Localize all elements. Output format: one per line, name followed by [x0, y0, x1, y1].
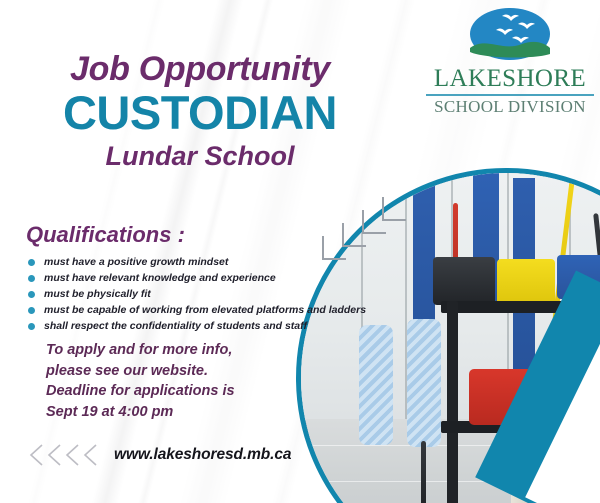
- list-item: must have a positive growth mindset: [26, 255, 356, 271]
- apply-line-4: Sept 19 at 4:00 pm: [46, 402, 306, 423]
- list-item: shall respect the confidentiality of stu…: [26, 319, 356, 335]
- website-url[interactable]: www.lakeshoresd.mb.ca: [114, 446, 291, 464]
- headline-custodian: CUSTODIAN: [0, 88, 400, 137]
- headline-block: Job Opportunity CUSTODIAN Lundar School: [0, 52, 400, 170]
- logo-subtitle: SCHOOL DIVISION: [424, 98, 596, 115]
- dust-mop-blue-2: [407, 319, 441, 447]
- headline-school: Lundar School: [0, 143, 400, 170]
- apply-line-3: Deadline for applications is: [46, 381, 306, 402]
- apply-info-block: To apply and for more info, please see o…: [46, 340, 306, 422]
- chevron-left-icon: [64, 443, 81, 467]
- chevron-left-icons: [28, 443, 99, 467]
- website-block: www.lakeshoresd.mb.ca: [28, 443, 291, 467]
- apply-line-1: To apply and for more info,: [46, 340, 306, 361]
- logo-rule: [426, 94, 594, 96]
- dust-mop-blue: [359, 325, 393, 445]
- logo-name: LAKESHORE: [424, 66, 596, 91]
- job-posting-poster: LAKESHORE SCHOOL DIVISION Job Opportunit…: [0, 0, 600, 503]
- lakeshore-logo: LAKESHORE SCHOOL DIVISION: [424, 6, 596, 115]
- list-item: must be capable of working from elevated…: [26, 303, 356, 319]
- qualifications-section: Qualifications : must have a positive gr…: [26, 222, 356, 335]
- lakeshore-birds-emblem-icon: [466, 6, 554, 62]
- qualifications-list: must have a positive growth mindset must…: [26, 255, 356, 335]
- yellow-tub: [497, 259, 555, 307]
- headline-job-opportunity: Job Opportunity: [0, 52, 400, 86]
- cart-bin: [433, 257, 495, 305]
- list-item: must be physically fit: [26, 287, 356, 303]
- chevron-left-icon: [28, 443, 45, 467]
- chevron-left-icon: [46, 443, 63, 467]
- apply-line-2: please see our website.: [46, 361, 306, 382]
- chevron-left-icon: [82, 443, 99, 467]
- qualifications-title: Qualifications :: [26, 222, 356, 248]
- list-item: must have relevant knowledge and experie…: [26, 271, 356, 287]
